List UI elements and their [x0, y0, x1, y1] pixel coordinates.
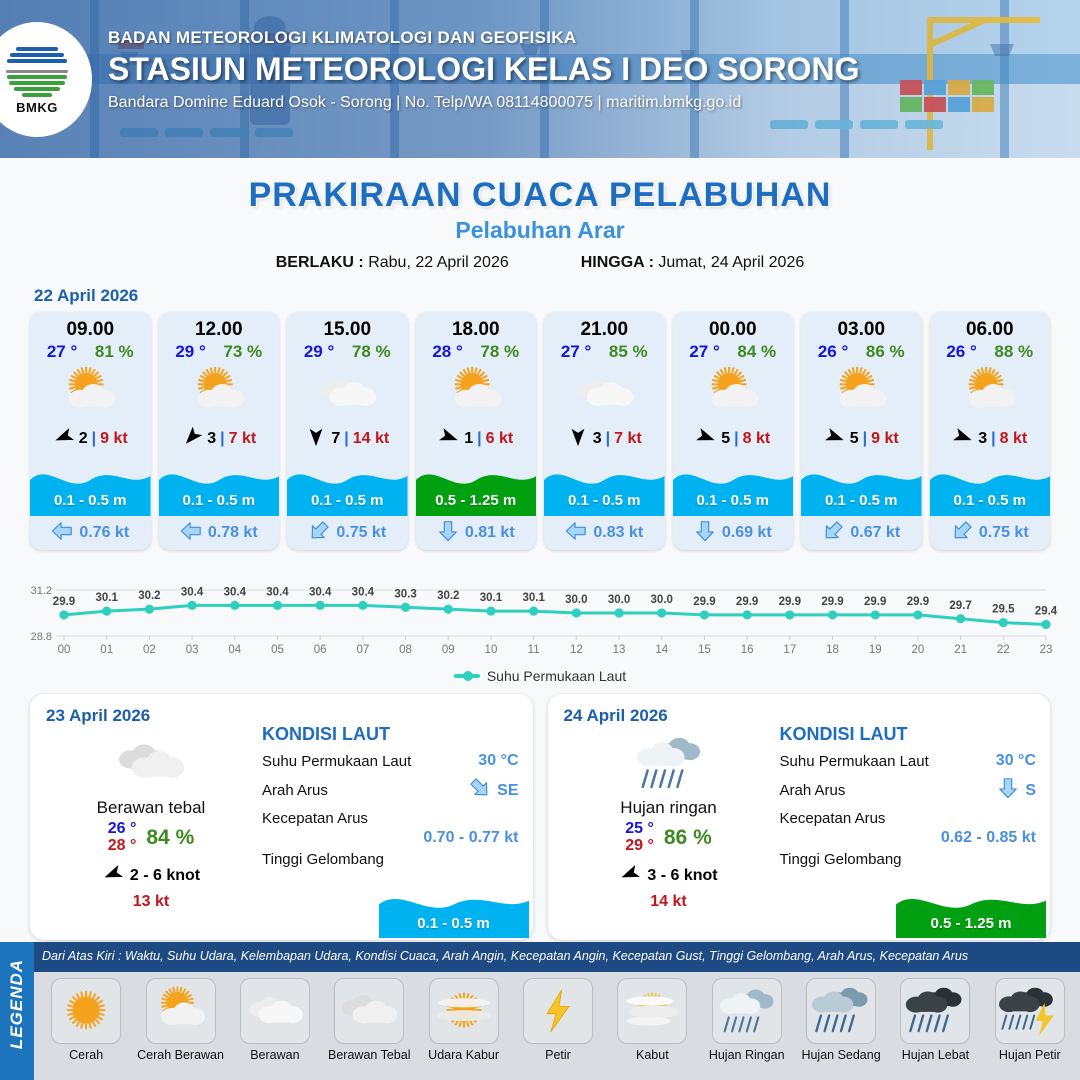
card-gust: 8 kt — [1000, 430, 1028, 448]
card-current-speed: 0.83 kt — [593, 524, 643, 542]
card-wind-speed: 5 — [850, 430, 859, 448]
card-humidity: 85 % — [609, 342, 648, 362]
svg-text:02: 02 — [143, 644, 156, 656]
card-current-speed: 0.75 kt — [336, 524, 386, 542]
weather-icon-cerah-berawan — [146, 978, 216, 1044]
wind-direction-arrow-icon — [952, 426, 974, 453]
card-wind-speed: 5 — [721, 430, 730, 448]
weather-icon-cerah-berawan — [30, 362, 151, 424]
card-wave: 0.1 - 0.5 m — [673, 454, 794, 516]
page-title: PRAKIRAAN CUACA PELABUHAN — [0, 176, 1080, 215]
panel-gust: 14 kt — [564, 893, 774, 911]
card-temperature: 29 ° — [175, 342, 205, 362]
panel-condition: Berawan tebal — [46, 798, 256, 818]
bmkg-emblem-icon — [6, 45, 68, 99]
legend-item: Hujan Petir — [984, 978, 1076, 1062]
wind-direction-arrow-icon — [305, 426, 327, 453]
station-contact: Bandara Domine Eduard Osok - Sorong | No… — [108, 94, 1060, 112]
forecast-card: 21.00 27 ° 85 % 3 | 7 kt 0.1 - 0.5 m — [544, 312, 665, 550]
forecast-card-list: 09.00 27 ° 81 % 2 | 9 kt 0.1 - 0.5 m 0.7… — [0, 312, 1080, 550]
svg-text:29.5: 29.5 — [992, 604, 1015, 616]
card-divider: | — [734, 430, 738, 448]
card-wave-height: 0.1 - 0.5 m — [159, 492, 280, 509]
svg-text:29.9: 29.9 — [736, 596, 758, 608]
current-direction-arrow-icon — [951, 520, 973, 547]
svg-text:30.4: 30.4 — [181, 586, 204, 598]
legend-item: Cerah — [40, 978, 132, 1062]
card-wave-height: 0.1 - 0.5 m — [544, 492, 665, 509]
sea-conditions-title: KONDISI LAUT — [780, 724, 1037, 745]
wind-direction-arrow-icon — [567, 426, 589, 453]
svg-text:14: 14 — [655, 644, 668, 656]
current-direction-arrow-icon — [51, 520, 73, 547]
card-divider: | — [92, 430, 96, 448]
card-gust: 7 kt — [614, 430, 642, 448]
panel-humidity: 84 % — [146, 826, 194, 850]
svg-text:29.9: 29.9 — [907, 596, 929, 608]
card-current-speed: 0.75 kt — [979, 524, 1029, 542]
card-temperature: 27 ° — [689, 342, 719, 362]
svg-text:11: 11 — [528, 644, 540, 656]
wind-direction-arrow-icon — [824, 426, 846, 453]
legend-item-label: Udara Kabur — [417, 1048, 509, 1062]
card-humidity: 78 % — [352, 342, 391, 362]
legend-item: Berawan — [229, 978, 321, 1062]
card-wave: 0.1 - 0.5 m — [544, 454, 665, 516]
weather-icon-cerah — [51, 978, 121, 1044]
legend-note: Dari Atas Kiri : Waktu, Suhu Udara, Kele… — [42, 949, 1076, 963]
svg-text:22: 22 — [997, 644, 1010, 656]
svg-text:30.4: 30.4 — [266, 586, 289, 598]
panel-date: 23 April 2026 — [46, 706, 517, 726]
card-gust: 6 kt — [486, 430, 514, 448]
svg-text:30.3: 30.3 — [394, 588, 416, 600]
card-wave-height: 0.1 - 0.5 m — [801, 492, 922, 509]
weather-icon-cerah-berawan — [416, 362, 537, 424]
weather-icon-udara-kabur — [429, 978, 499, 1044]
card-humidity: 86 % — [866, 342, 905, 362]
forecast-card: 18.00 28 ° 78 % 1 | 6 kt 0.5 - 1.25 m 0.… — [416, 312, 537, 550]
svg-text:30.4: 30.4 — [224, 586, 247, 598]
panel-temp-max: 28 ° — [108, 838, 137, 855]
forecast-card: 06.00 26 ° 88 % 3 | 8 kt 0.1 - 0.5 m 0.7… — [930, 312, 1051, 550]
weather-icon-cerah-berawan — [801, 362, 922, 424]
svg-text:10: 10 — [485, 644, 498, 656]
svg-text:00: 00 — [58, 644, 71, 656]
card-gust: 7 kt — [229, 430, 257, 448]
card-humidity: 81 % — [95, 342, 134, 362]
legend-item: Udara Kabur — [417, 978, 509, 1062]
card-wind-speed: 3 — [593, 430, 602, 448]
card-humidity: 88 % — [994, 342, 1033, 362]
chart-legend: Suhu Permukaan Laut — [0, 668, 1080, 684]
card-time: 06.00 — [930, 312, 1051, 341]
svg-text:30.0: 30.0 — [608, 594, 630, 606]
valid-to-value: Jumat, 24 April 2026 — [658, 254, 804, 271]
svg-text:30.2: 30.2 — [138, 590, 160, 602]
panel-temp-max: 29 ° — [625, 838, 654, 855]
svg-text:08: 08 — [399, 644, 412, 656]
current-speed-label: Kecepatan Arus — [780, 810, 886, 827]
current-speed-value: 0.70 - 0.77 kt — [262, 829, 519, 847]
legend-item-label: Hujan Petir — [984, 1048, 1076, 1062]
svg-text:03: 03 — [186, 644, 199, 656]
legend-item: Berawan Tebal — [323, 978, 415, 1062]
current-direction-arrow-icon — [469, 777, 491, 804]
card-current-speed: 0.76 kt — [79, 524, 129, 542]
legend-side-bar: LEGENDA — [0, 942, 34, 1080]
day-summary-panel: 24 April 2026 Hujan ringan 25 ° 29 ° 86 … — [548, 694, 1051, 940]
current-direction-arrow-icon — [565, 520, 587, 547]
current-direction-arrow-icon — [694, 520, 716, 547]
svg-text:30.4: 30.4 — [352, 586, 375, 598]
bmkg-logo-text: BMKG — [16, 100, 58, 115]
legend-item: Petir — [512, 978, 604, 1062]
weather-icon-berawan — [287, 362, 408, 424]
valid-to-label: HINGGA : — [581, 254, 654, 271]
legend-item-label: Hujan Lebat — [889, 1048, 981, 1062]
forecast-card: 15.00 29 ° 78 % 7 | 14 kt 0.1 - 0.5 m — [287, 312, 408, 550]
panel-wave: 0.5 - 1.25 m — [896, 880, 1046, 938]
chart-legend-label: Suhu Permukaan Laut — [487, 668, 626, 684]
sst-chart: 31.228.829.90030.10130.20230.40330.40430… — [18, 564, 1062, 664]
wind-direction-arrow-icon — [619, 863, 641, 890]
card-wave: 0.1 - 0.5 m — [930, 454, 1051, 516]
svg-text:06: 06 — [314, 644, 327, 656]
weather-icon-hujan-petir — [995, 978, 1065, 1044]
weather-icon-hujan-sedang — [806, 978, 876, 1044]
card-gust: 9 kt — [871, 430, 899, 448]
weather-icon-hujan-ringan — [712, 978, 782, 1044]
card-wave: 0.5 - 1.25 m — [416, 454, 537, 516]
panel-temp-min: 25 ° — [625, 821, 654, 838]
svg-text:17: 17 — [783, 644, 796, 656]
svg-text:30.0: 30.0 — [565, 594, 587, 606]
svg-text:29.9: 29.9 — [53, 596, 75, 608]
panel-wave: 0.1 - 0.5 m — [379, 880, 529, 938]
card-humidity: 84 % — [737, 342, 776, 362]
svg-text:30.0: 30.0 — [651, 594, 673, 606]
card-divider: | — [606, 430, 610, 448]
chart-legend-swatch — [454, 674, 480, 678]
sea-conditions-title: KONDISI LAUT — [262, 724, 519, 745]
weather-icon-berawan-tebal — [334, 978, 404, 1044]
svg-text:31.2: 31.2 — [31, 585, 52, 597]
weather-icon-cerah-berawan — [159, 362, 280, 424]
svg-text:23: 23 — [1040, 644, 1053, 656]
current-direction-value: SE — [497, 782, 518, 800]
svg-text:05: 05 — [271, 644, 284, 656]
panel-wave-height: 0.5 - 1.25 m — [896, 915, 1046, 932]
card-temperature: 27 ° — [47, 342, 77, 362]
svg-text:30.4: 30.4 — [309, 586, 332, 598]
legend-item: Hujan Sedang — [795, 978, 887, 1062]
legend-side-title: LEGENDA — [7, 953, 27, 1055]
svg-text:29.9: 29.9 — [864, 596, 886, 608]
svg-text:30.2: 30.2 — [437, 590, 459, 602]
card-time: 12.00 — [159, 312, 280, 341]
current-direction-arrow-icon — [997, 777, 1019, 804]
card-wave: 0.1 - 0.5 m — [159, 454, 280, 516]
legend-item-label: Hujan Sedang — [795, 1048, 887, 1062]
card-time: 00.00 — [673, 312, 794, 341]
wind-direction-arrow-icon — [438, 426, 460, 453]
legend-item: Hujan Lebat — [889, 978, 981, 1062]
card-time: 18.00 — [416, 312, 537, 341]
card-current-speed: 0.67 kt — [850, 524, 900, 542]
card-temperature: 28 ° — [432, 342, 462, 362]
daily-summary-panels: 23 April 2026 Berawan tebal 26 ° 28 ° 84… — [0, 684, 1080, 940]
page-header: BMKG BADAN METEOROLOGI KLIMATOLOGI DAN G… — [0, 0, 1080, 158]
day-summary-panel: 23 April 2026 Berawan tebal 26 ° 28 ° 84… — [30, 694, 533, 940]
card-wave-height: 0.1 - 0.5 m — [673, 492, 794, 509]
weather-icon-hujan-lebat — [900, 978, 970, 1044]
card-divider: | — [477, 430, 481, 448]
card-time: 15.00 — [287, 312, 408, 341]
svg-text:28.8: 28.8 — [31, 631, 52, 643]
weather-icon-berawan — [240, 978, 310, 1044]
legend-item-label: Hujan Ringan — [701, 1048, 793, 1062]
card-wind-speed: 3 — [207, 430, 216, 448]
card-time: 03.00 — [801, 312, 922, 341]
panel-wind-range: 3 - 6 knot — [647, 867, 717, 885]
card-temperature: 26 ° — [818, 342, 848, 362]
current-direction-arrow-icon — [822, 520, 844, 547]
legend-icon-strip: Cerah Cerah Berawan Berawan Berawan Teba… — [34, 972, 1080, 1080]
card-wind-speed: 1 — [464, 430, 473, 448]
validity-row: BERLAKU : Rabu, 22 April 2026 HINGGA : J… — [0, 254, 1080, 272]
card-current-speed: 0.78 kt — [208, 524, 258, 542]
card-gust: 14 kt — [353, 430, 389, 448]
card-wave: 0.1 - 0.5 m — [287, 454, 408, 516]
card-wave: 0.1 - 0.5 m — [30, 454, 151, 516]
svg-text:21: 21 — [954, 644, 967, 656]
agency-name: BADAN METEOROLOGI KLIMATOLOGI DAN GEOFIS… — [108, 28, 1060, 48]
weather-icon-cerah-berawan — [673, 362, 794, 424]
card-divider: | — [991, 430, 995, 448]
current-direction-arrow-icon — [437, 520, 459, 547]
panel-wave-height: 0.1 - 0.5 m — [379, 915, 529, 932]
card-divider: | — [344, 430, 348, 448]
panel-temp-min: 26 ° — [108, 821, 137, 838]
card-temperature: 26 ° — [946, 342, 976, 362]
legend-footer: LEGENDA Dari Atas Kiri : Waktu, Suhu Uda… — [0, 942, 1080, 1080]
panel-wind-range: 2 - 6 knot — [130, 867, 200, 885]
svg-text:30.1: 30.1 — [96, 592, 119, 604]
card-wave-height: 0.1 - 0.5 m — [30, 492, 151, 509]
sst-label: Suhu Permukaan Laut — [262, 753, 411, 770]
legend-item-label: Cerah — [40, 1048, 132, 1062]
card-wave-height: 0.1 - 0.5 m — [287, 492, 408, 509]
card-humidity: 78 % — [480, 342, 519, 362]
wind-direction-arrow-icon — [53, 426, 75, 453]
weather-icon-hujan-ringan — [564, 732, 774, 794]
card-wave-height: 0.1 - 0.5 m — [930, 492, 1051, 509]
legend-item-label: Petir — [512, 1048, 604, 1062]
card-wave: 0.1 - 0.5 m — [801, 454, 922, 516]
weather-icon-berawan — [544, 362, 665, 424]
card-time: 09.00 — [30, 312, 151, 341]
card-wave-height: 0.5 - 1.25 m — [416, 492, 537, 509]
station-name: STASIUN METEOROLOGI KELAS I DEO SORONG — [108, 51, 1060, 88]
current-direction-label: Arah Arus — [262, 782, 328, 799]
panel-date: 24 April 2026 — [564, 706, 1035, 726]
legend-item-label: Cerah Berawan — [134, 1048, 226, 1062]
svg-text:13: 13 — [613, 644, 626, 656]
forecast-card: 03.00 26 ° 86 % 5 | 9 kt 0.1 - 0.5 m 0.6… — [801, 312, 922, 550]
card-humidity: 73 % — [223, 342, 262, 362]
card-divider: | — [220, 430, 224, 448]
valid-from-value: Rabu, 22 April 2026 — [368, 254, 509, 271]
sst-value: 30 °C — [478, 752, 518, 770]
card-wind-speed: 2 — [79, 430, 88, 448]
current-speed-label: Kecepatan Arus — [262, 810, 368, 827]
svg-text:12: 12 — [570, 644, 583, 656]
valid-from: BERLAKU : Rabu, 22 April 2026 — [276, 254, 509, 272]
panel-humidity: 86 % — [664, 826, 712, 850]
legend-item-label: Berawan — [229, 1048, 321, 1062]
current-speed-value: 0.62 - 0.85 kt — [780, 829, 1037, 847]
card-gust: 9 kt — [100, 430, 128, 448]
sst-value: 30 °C — [996, 752, 1036, 770]
card-temperature: 27 ° — [561, 342, 591, 362]
forecast-card: 00.00 27 ° 84 % 5 | 8 kt 0.1 - 0.5 m 0.6… — [673, 312, 794, 550]
wave-height-label: Tinggi Gelombang — [262, 851, 384, 868]
card-wind-speed: 7 — [331, 430, 340, 448]
svg-text:15: 15 — [698, 644, 711, 656]
forecast-card: 09.00 27 ° 81 % 2 | 9 kt 0.1 - 0.5 m 0.7… — [30, 312, 151, 550]
svg-text:29.4: 29.4 — [1035, 606, 1058, 618]
weather-icon-kabut — [617, 978, 687, 1044]
wind-direction-arrow-icon — [181, 426, 203, 453]
weather-icon-petir — [523, 978, 593, 1044]
legend-item-label: Kabut — [606, 1048, 698, 1062]
svg-text:29.7: 29.7 — [949, 600, 971, 612]
panel-gust: 13 kt — [46, 893, 256, 911]
forecast-poster: BMKG BADAN METEOROLOGI KLIMATOLOGI DAN G… — [0, 0, 1080, 1080]
svg-text:01: 01 — [100, 644, 113, 656]
weather-icon-cerah-berawan — [930, 362, 1051, 424]
svg-text:29.9: 29.9 — [779, 596, 801, 608]
current-direction-label: Arah Arus — [780, 782, 846, 799]
panel-condition: Hujan ringan — [564, 798, 774, 818]
legend-item: Kabut — [606, 978, 698, 1062]
svg-text:16: 16 — [741, 644, 754, 656]
svg-text:07: 07 — [356, 644, 369, 656]
valid-from-label: BERLAKU : — [276, 254, 364, 271]
weather-icon-berawan-tebal — [46, 732, 256, 794]
svg-text:04: 04 — [228, 644, 241, 656]
legend-item: Cerah Berawan — [134, 978, 226, 1062]
card-gust: 8 kt — [743, 430, 771, 448]
wave-height-label: Tinggi Gelombang — [780, 851, 902, 868]
svg-text:09: 09 — [442, 644, 455, 656]
legend-item-label: Berawan Tebal — [323, 1048, 415, 1062]
card-wind-speed: 3 — [978, 430, 987, 448]
legend-item: Hujan Ringan — [701, 978, 793, 1062]
current-direction-arrow-icon — [180, 520, 202, 547]
svg-text:19: 19 — [869, 644, 882, 656]
current-direction-arrow-icon — [308, 520, 330, 547]
card-current-speed: 0.81 kt — [465, 524, 515, 542]
wind-direction-arrow-icon — [695, 426, 717, 453]
svg-text:20: 20 — [912, 644, 925, 656]
current-direction-value: S — [1025, 782, 1036, 800]
svg-text:30.1: 30.1 — [522, 592, 545, 604]
valid-to: HINGGA : Jumat, 24 April 2026 — [581, 254, 805, 272]
svg-text:30.1: 30.1 — [480, 592, 503, 604]
card-time: 21.00 — [544, 312, 665, 341]
page-subtitle: Pelabuhan Arar — [0, 217, 1080, 244]
svg-text:29.9: 29.9 — [821, 596, 843, 608]
card-temperature: 29 ° — [304, 342, 334, 362]
forecast-card: 12.00 29 ° 73 % 3 | 7 kt 0.1 - 0.5 m 0.7… — [159, 312, 280, 550]
forecast-date-label: 22 April 2026 — [34, 286, 1080, 306]
card-current-speed: 0.69 kt — [722, 524, 772, 542]
card-divider: | — [863, 430, 867, 448]
wind-direction-arrow-icon — [102, 863, 124, 890]
svg-text:29.9: 29.9 — [693, 596, 715, 608]
sst-label: Suhu Permukaan Laut — [780, 753, 929, 770]
svg-text:18: 18 — [826, 644, 839, 656]
